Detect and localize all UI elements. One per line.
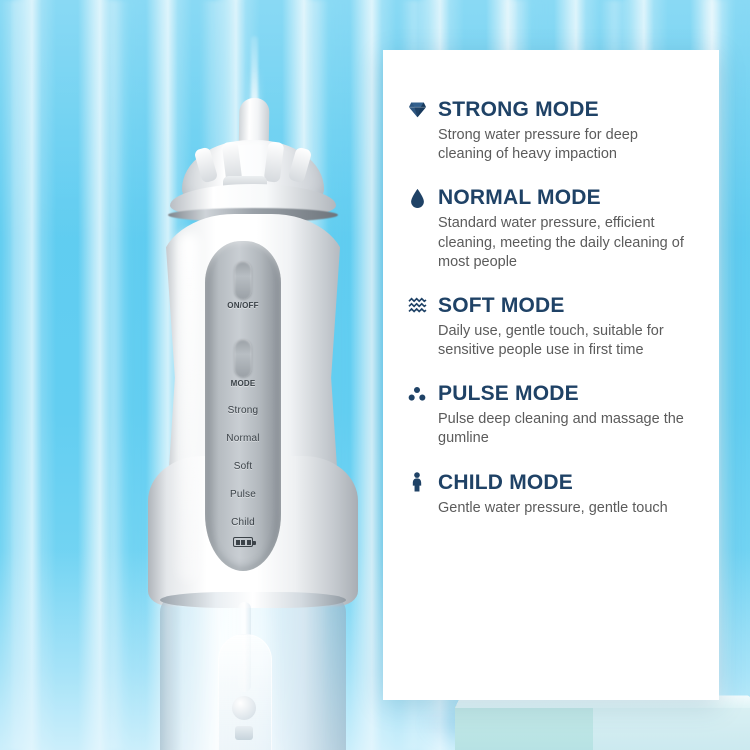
battery-icon <box>233 537 253 547</box>
mode-item-strong: STRONG MODE Strong water pressure for de… <box>407 98 699 164</box>
mode-header: SOFT MODE <box>407 294 699 317</box>
mode-desc-normal: Standard water pressure, efficient clean… <box>438 214 690 271</box>
power-button[interactable] <box>235 261 252 299</box>
mode-title-normal: NORMAL MODE <box>438 186 601 209</box>
panel-label-child: Child <box>205 517 281 528</box>
three-dots-icon <box>407 383 427 405</box>
water-tank-knob[interactable] <box>232 696 256 720</box>
mode-button-label: MODE <box>205 379 281 388</box>
mode-title-pulse: PULSE MODE <box>438 382 579 405</box>
mode-title-strong: STRONG MODE <box>438 98 599 121</box>
panel-label-normal: Normal <box>205 433 281 444</box>
pedestal-face-right <box>593 706 750 750</box>
mode-list: STRONG MODE Strong water pressure for de… <box>383 50 719 540</box>
control-panel[interactable]: ON/OFF MODE Strong Normal Soft Pulse Chi… <box>205 241 281 571</box>
mode-item-normal: NORMAL MODE Standard water pressure, eff… <box>407 186 699 271</box>
mode-desc-pulse: Pulse deep cleaning and massage the guml… <box>438 410 690 448</box>
waves-icon <box>407 294 427 316</box>
mode-item-pulse: PULSE MODE Pulse deep cleaning and massa… <box>407 382 699 448</box>
panel-label-strong: Strong <box>205 405 281 416</box>
mode-header: CHILD MODE <box>407 471 699 494</box>
product-pedestal-cube <box>455 692 750 750</box>
mode-title-soft: SOFT MODE <box>438 294 565 317</box>
diamond-icon <box>407 99 427 121</box>
panel-label-soft: Soft <box>205 461 281 472</box>
handle-highlight <box>178 232 200 582</box>
mode-info-card: STRONG MODE Strong water pressure for de… <box>383 50 719 700</box>
mode-header: STRONG MODE <box>407 98 699 121</box>
mode-header: PULSE MODE <box>407 382 699 405</box>
mode-item-child: CHILD MODE Gentle water pressure, gentle… <box>407 471 699 518</box>
power-button-label: ON/OFF <box>205 301 281 310</box>
water-tank-latch[interactable] <box>235 726 253 740</box>
mode-title-child: CHILD MODE <box>438 471 573 494</box>
mode-desc-strong: Strong water pressure for deep cleaning … <box>438 126 690 164</box>
pedestal-face-left <box>455 706 593 750</box>
water-flosser-product: ON/OFF MODE Strong Normal Soft Pulse Chi… <box>120 36 370 750</box>
product-infographic: ON/OFF MODE Strong Normal Soft Pulse Chi… <box>0 0 750 750</box>
mode-desc-soft: Daily use, gentle touch, suitable for se… <box>438 322 690 360</box>
water-drop-icon <box>407 187 427 209</box>
mode-item-soft: SOFT MODE Daily use, gentle touch, suita… <box>407 294 699 360</box>
mode-button[interactable] <box>235 339 252 377</box>
mode-header: NORMAL MODE <box>407 186 699 209</box>
water-tank-rim <box>160 592 346 608</box>
child-person-icon <box>407 471 427 493</box>
mode-desc-child: Gentle water pressure, gentle touch <box>438 499 690 518</box>
panel-label-pulse: Pulse <box>205 489 281 500</box>
